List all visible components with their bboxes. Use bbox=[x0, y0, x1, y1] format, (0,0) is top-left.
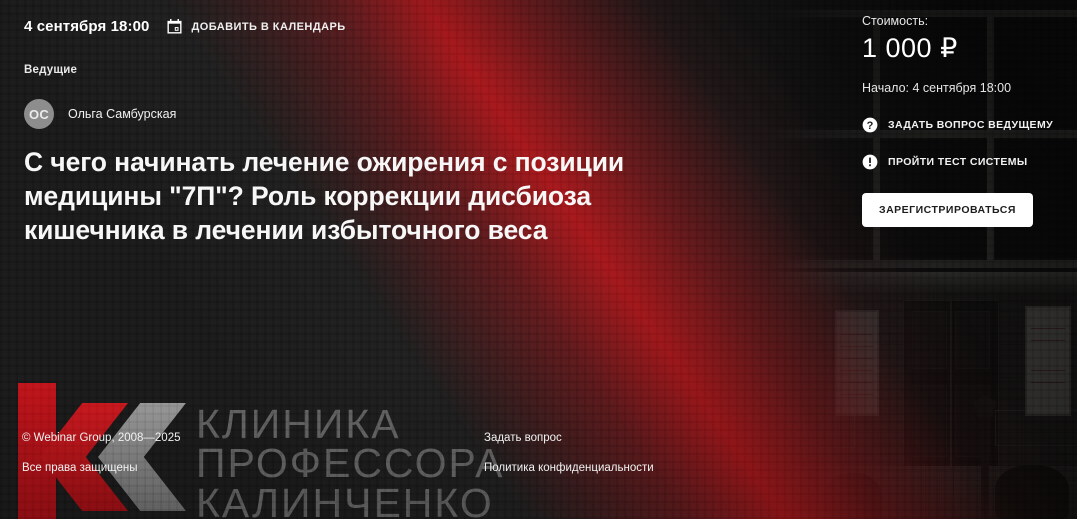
hosts-label: Ведущие bbox=[24, 64, 77, 76]
event-datetime: 4 сентября 18:00 bbox=[24, 18, 149, 35]
price-value: 1 000 ₽ bbox=[862, 33, 1062, 64]
footer-rights: Все права защищены bbox=[22, 462, 181, 474]
add-to-calendar-button[interactable]: ДОБАВИТЬ В КАЛЕНДАРЬ bbox=[167, 19, 345, 34]
price-label: Стоимость: bbox=[862, 14, 1062, 28]
host-item[interactable]: ОС Ольга Самбурская bbox=[24, 99, 176, 129]
page-title: С чего начинать лечение ожирения с позиц… bbox=[24, 145, 646, 247]
svg-text:?: ? bbox=[867, 120, 874, 132]
ask-host-question-label: ЗАДАТЬ ВОПРОС ВЕДУЩЕМУ bbox=[888, 119, 1053, 131]
event-info-sidebar: Стоимость: 1 000 ₽ Начало: 4 сентября 18… bbox=[862, 14, 1062, 227]
footer-legal-column: © Webinar Group, 2008—2025 Все права защ… bbox=[22, 432, 181, 492]
calendar-icon bbox=[167, 19, 182, 34]
system-test-button[interactable]: ПРОЙТИ ТЕСТ СИСТЕМЫ bbox=[862, 154, 1062, 170]
date-bar: 4 сентября 18:00 ДОБАВИТЬ В КАЛЕНДАРЬ bbox=[24, 18, 346, 35]
footer-link-ask-question[interactable]: Задать вопрос bbox=[484, 432, 654, 444]
exclamation-circle-icon bbox=[862, 154, 878, 170]
host-name: Ольга Самбурская bbox=[68, 107, 176, 121]
start-time-text: Начало: 4 сентября 18:00 bbox=[862, 81, 1062, 95]
question-circle-icon: ? bbox=[862, 117, 878, 133]
footer-link-privacy-policy[interactable]: Политика конфиденциальности bbox=[484, 462, 654, 474]
footer-links-column: Задать вопрос Политика конфиденциальност… bbox=[484, 432, 654, 492]
footer-copyright: © Webinar Group, 2008—2025 bbox=[22, 432, 181, 444]
system-test-label: ПРОЙТИ ТЕСТ СИСТЕМЫ bbox=[888, 156, 1028, 168]
ask-host-question-button[interactable]: ? ЗАДАТЬ ВОПРОС ВЕДУЩЕМУ bbox=[862, 117, 1062, 133]
avatar: ОС bbox=[24, 99, 54, 129]
register-button[interactable]: ЗАРЕГИСТРИРОВАТЬСЯ bbox=[862, 193, 1033, 227]
webinar-landing-page: КЛИНИКА ПРОФЕССОРА КАЛИНЧЕНКО 4 сентября… bbox=[0, 0, 1077, 519]
add-to-calendar-label: ДОБАВИТЬ В КАЛЕНДАРЬ bbox=[191, 21, 345, 33]
